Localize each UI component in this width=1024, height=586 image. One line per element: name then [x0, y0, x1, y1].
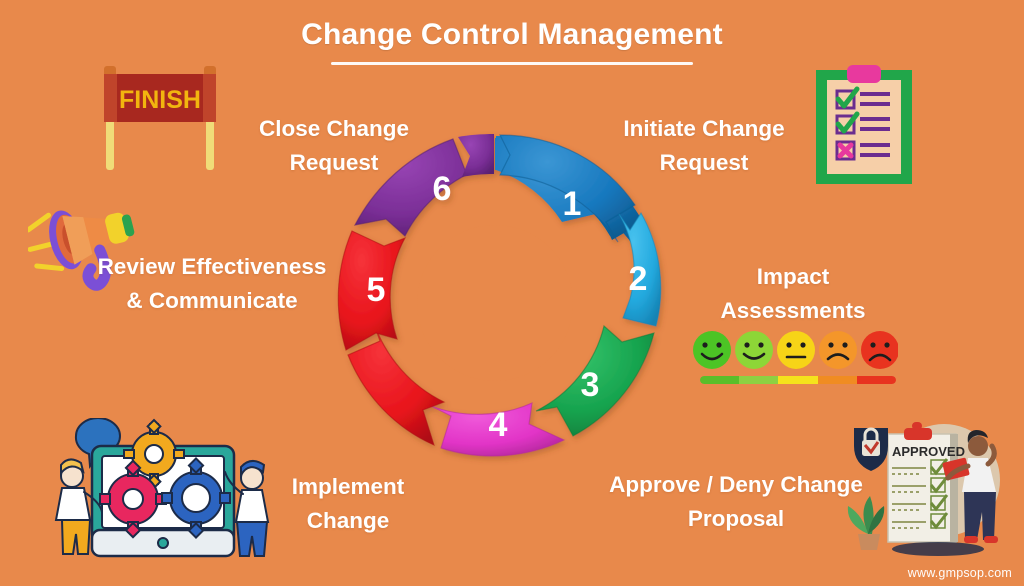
happy-face-icon [735, 331, 773, 369]
clipboard-checklist-icon [814, 64, 914, 186]
label-implement-change: Implement Change [254, 470, 442, 538]
infographic-canvas: Change Control Management FINISH [0, 0, 1024, 586]
label-initiate-change-request: Initiate Change Request [588, 112, 820, 180]
approved-checklist-illustration: APPROVED [846, 416, 1018, 566]
label-approve-deny-change-proposal: Approve / Deny Change Proposal [606, 468, 866, 536]
page-title: Change Control Management [0, 18, 1024, 52]
cycle-segment-4[interactable]: 4 [431, 403, 564, 456]
title-underline [331, 62, 693, 65]
implement-change-illustration [46, 418, 278, 566]
impact-bar-segment-2 [739, 376, 778, 384]
impact-severity-bar [700, 376, 896, 384]
impact-bar-segment-3 [778, 376, 817, 384]
finish-flag-icon: FINISH [98, 60, 224, 172]
neutral-face-icon [777, 331, 815, 369]
label-impact-assessments: Impact Assessments [684, 260, 902, 328]
cycle-segment-2-number: 2 [629, 260, 648, 298]
impact-bar-segment-4 [818, 376, 857, 384]
very-sad-face-icon [861, 331, 898, 369]
impact-bar-segment-5 [857, 376, 896, 384]
impact-bar-segment-1 [700, 376, 739, 384]
cycle-segment-4-number: 4 [489, 406, 508, 444]
cycle-segment-3-number: 3 [581, 366, 600, 404]
cycle-segment-1-number: 1 [563, 185, 582, 223]
impact-assessment-face-scale [692, 330, 898, 370]
cycle-segment-5-number: 5 [367, 271, 386, 309]
approved-stamp-label: APPROVED [892, 444, 965, 459]
sad-face-icon [819, 331, 857, 369]
very-happy-face-icon [693, 331, 731, 369]
site-watermark: www.gmpsop.com [908, 566, 1012, 580]
label-review-effectiveness: Review Effectiveness & Communicate [92, 250, 332, 318]
label-close-change-request: Close Change Request [218, 112, 450, 180]
finish-flag-label: FINISH [119, 86, 201, 114]
